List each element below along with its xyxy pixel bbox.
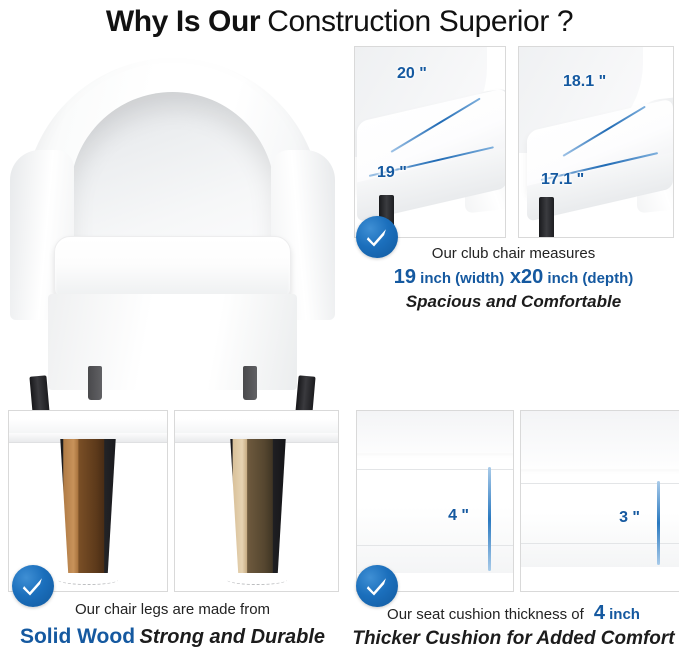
competitor-seat-illustration: 18.1 " 17.1 "	[519, 47, 673, 237]
competitor-width-label: 17.1 "	[541, 171, 584, 189]
competitor-thickness-label: 3 "	[619, 509, 640, 527]
cushion-value: 4	[594, 602, 605, 624]
thickness-measure-line	[657, 481, 660, 565]
club-chair-illustration	[10, 58, 335, 398]
competitor-depth-label: 18.1 "	[563, 73, 606, 91]
our-cushion-illustration: 4 "	[357, 411, 513, 591]
dimensions-caption-line1: Our club chair measures	[350, 245, 677, 262]
dimensions-caption-line3: Spacious and Comfortable	[350, 292, 677, 312]
thickness-measure-line	[488, 467, 491, 571]
cushion-caption-line2: Thicker Cushion for Added Comfort	[350, 628, 677, 650]
depth-unit: inch (depth)	[547, 270, 633, 287]
dimensions-caption-line2: 19 inch (width) x20 inch (depth)	[350, 266, 677, 289]
hero-chair-image	[2, 46, 343, 404]
competitor-leg	[225, 439, 291, 573]
our-width-label: 19 "	[377, 164, 407, 182]
seat-leg	[539, 197, 554, 238]
cushion-seam	[520, 543, 679, 544]
competitor-cushion-illustration: 3 "	[521, 411, 679, 591]
leg-ground-shadow	[227, 575, 287, 585]
chair-seat-cushion	[54, 236, 291, 298]
cushion-seam	[520, 483, 679, 484]
cushion-panel: 4 " 3 " Our seat cushion thickness of 4 …	[350, 410, 677, 650]
our-seat-illustration: 20 " 19 "	[355, 47, 505, 237]
competitor-leg-illustration	[175, 411, 338, 591]
competitor-leg-photo	[174, 410, 339, 592]
our-chair-dimension-photo: 20 " 19 "	[354, 46, 506, 238]
legs-caption-line2: Solid Wood Strong and Durable	[2, 625, 343, 649]
depth-value: 20	[521, 266, 543, 288]
dimensions-panel: 20 " 19 " 18.1 " 17.1 "	[350, 46, 677, 404]
page-title: Why Is Our Construction Superior ?	[0, 0, 679, 44]
check-badge-icon	[356, 216, 398, 258]
check-badge-icon	[12, 565, 54, 607]
width-unit: inch (width)	[420, 270, 504, 287]
legs-panel: Our chair legs are made from Solid Wood …	[2, 410, 343, 650]
check-badge-icon	[356, 565, 398, 607]
competitor-chair-dimension-photo: 18.1 " 17.1 "	[518, 46, 674, 238]
solid-wood-leg	[55, 439, 121, 573]
infographic-page: Why Is Our Construction Superior ?	[0, 0, 679, 652]
cushion-unit: inch	[609, 606, 640, 623]
our-depth-label: 20 "	[397, 65, 427, 83]
page-title-bold: Why Is Our	[106, 5, 260, 39]
legs-emphasis: Strong and Durable	[139, 626, 325, 648]
legs-caption-line1: Our chair legs are made from	[2, 601, 343, 618]
competitor-cushion-photo: 3 "	[520, 410, 679, 592]
legs-highlight: Solid Wood	[20, 625, 135, 648]
cushion-body	[520, 469, 679, 567]
chair-leg-back-left	[88, 366, 102, 400]
chair-base-skirt	[48, 294, 297, 390]
multiply-symbol: x	[510, 266, 521, 288]
chair-leg-back-right	[243, 366, 257, 400]
page-title-regular: Construction Superior ?	[267, 5, 573, 39]
cushion-backrest	[520, 410, 679, 475]
cushion-caption-line1: Our seat cushion thickness of 4 inch	[350, 602, 677, 625]
leg-ground-shadow	[58, 575, 118, 585]
cushion-caption-text: Our seat cushion thickness of	[387, 606, 584, 623]
hero-chair-panel	[2, 46, 343, 404]
width-value: 19	[394, 266, 416, 288]
our-thickness-label: 4 "	[448, 507, 469, 525]
our-leg-illustration	[9, 411, 167, 591]
